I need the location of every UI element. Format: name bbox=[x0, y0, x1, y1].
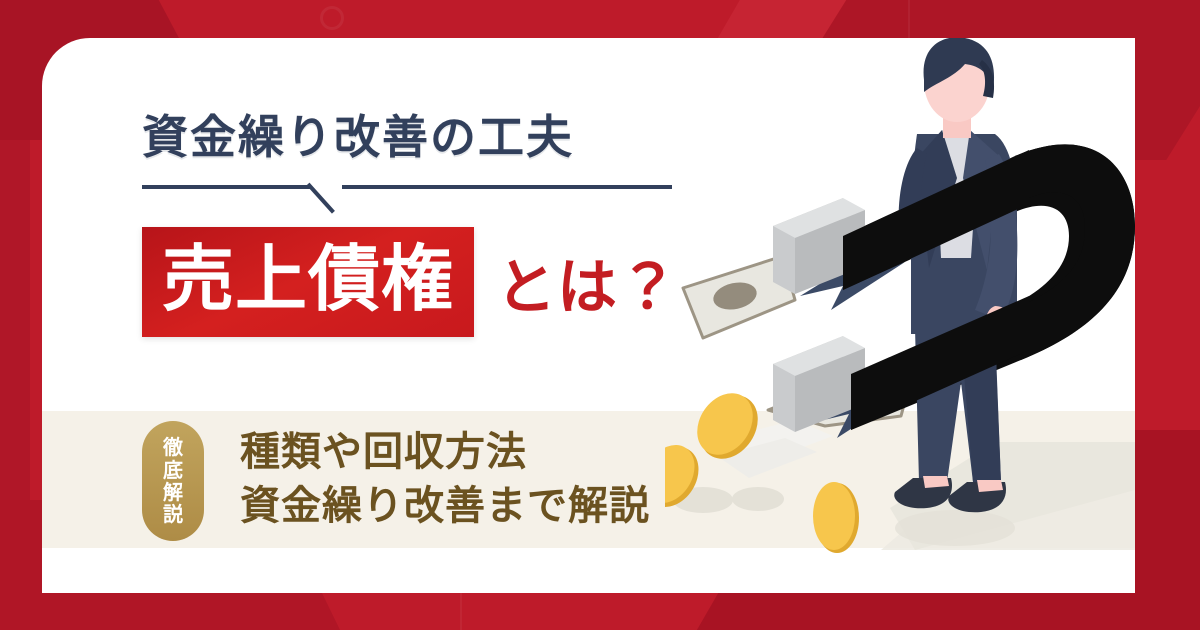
badge-char-4: 説 bbox=[163, 503, 183, 525]
subtitle-line-1: 種類や回収方法 bbox=[240, 425, 650, 479]
keyword-text: 売上債権 bbox=[162, 243, 454, 315]
banner-canvas: 資金繰り改善の工夫 売上債権 とは？ 徹 底 解 説 bbox=[0, 0, 1200, 630]
eyebrow-heading: 資金繰り改善の工夫 bbox=[142, 101, 574, 167]
keyword-suffix-text: とは？ bbox=[496, 239, 679, 326]
subtitle-row: 徹 底 解 説 種類や回収方法 資金繰り改善まで解説 bbox=[142, 421, 650, 541]
heading-divider bbox=[142, 181, 672, 215]
background-ring-icon bbox=[320, 6, 344, 30]
divider-tick bbox=[307, 183, 335, 214]
subtitle-line-2: 資金繰り改善まで解説 bbox=[240, 479, 650, 533]
subtitle-lines: 種類や回収方法 資金繰り改善まで解説 bbox=[240, 421, 650, 533]
badge-char-1: 徹 bbox=[163, 436, 183, 458]
status-badge: 徹 底 解 説 bbox=[142, 421, 204, 541]
divider-rule-short bbox=[142, 185, 310, 189]
text-column: 資金繰り改善の工夫 売上債権 とは？ 徹 底 解 説 bbox=[100, 38, 740, 593]
divider-rule-long bbox=[342, 185, 672, 189]
content-card: 資金繰り改善の工夫 売上債権 とは？ 徹 底 解 説 bbox=[42, 38, 1135, 593]
badge-char-3: 解 bbox=[163, 481, 183, 503]
badge-char-2: 底 bbox=[163, 459, 183, 481]
headline-row: 売上債権 とは？ bbox=[142, 227, 679, 337]
keyword-highlight-box: 売上債権 bbox=[142, 227, 474, 337]
